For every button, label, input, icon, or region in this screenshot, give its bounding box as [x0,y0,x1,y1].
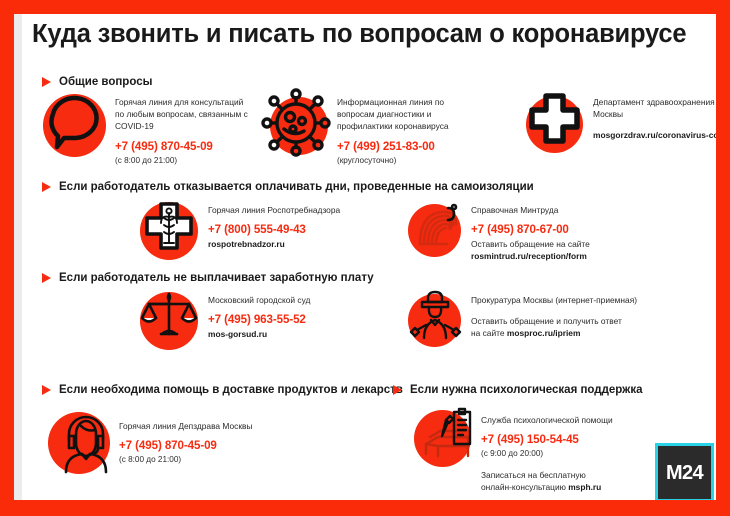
contact-note: Оставить обращение и получить ответ [471,315,646,327]
page-title: Куда звонить и писать по вопросам о коро… [32,20,686,49]
contact-depzdrav-hotline: Горячая линия Депздрава Москвы +7 (495) … [48,412,299,474]
contact-mintrud: Справочная Минтруда +7 (495) 870-67-00 О… [408,202,636,263]
contact-note-site-line: онлайн-консультацию msph.ru [481,481,656,493]
headset-operator-icon [48,412,110,474]
section-heading-label: Если работодатель отказывается оплачиват… [59,181,534,193]
mintrud-emblem-icon [408,204,461,257]
section-heading-label: Если необходима помощь в доставке продук… [59,384,403,396]
contact-website[interactable]: mosproc.ru/ipriem [507,328,581,338]
section-heading-label: Если работодатель не выплачивает заработ… [59,272,374,284]
scales-of-justice-icon [140,292,198,350]
contact-description: Московский городской суд [208,294,378,306]
contact-hours: (с 9:00 до 20:00) [481,448,656,459]
contact-rospotrebnadzor: Горячая линия Роспотребнадзора +7 (800) … [140,202,378,260]
caduceus-cross-icon [140,202,198,260]
medical-cross-icon [526,96,583,153]
triangle-bullet-icon [42,273,51,283]
poster-sheet: Куда звонить и писать по вопросам о коро… [14,14,716,500]
contact-info-line-diagnostics: Информационная линия по вопросам диагнос… [270,94,477,166]
contact-note: Оставить обращение на сайте [471,238,636,250]
contact-phone[interactable]: +7 (495) 150-54-45 [481,433,656,446]
contact-phone[interactable]: +7 (495) 963-55-52 [208,313,378,326]
contact-description: Прокуратура Москвы (интернет-приемная) [471,294,646,306]
contact-hours: (с 8:00 до 21:00) [115,155,250,166]
contact-hotline-covid: Горячая линия для консультаций по любым … [43,94,250,166]
contact-hours: (круглосуточно) [337,155,477,166]
m24-logo-text: M24 [666,463,703,483]
contact-description: Информационная линия по вопросам диагнос… [337,96,477,133]
contact-description: Горячая линия Депздрава Москвы [119,420,299,432]
couch-clipboard-icon [414,410,471,467]
contact-psychological-service: Служба психологической помощи +7 (495) 1… [414,410,656,493]
triangle-bullet-icon [42,182,51,192]
section-heading-label: Если нужна психологическая поддержка [410,384,642,396]
triangle-bullet-icon [393,385,402,395]
section-heading-label: Общие вопросы [59,76,152,88]
contact-website[interactable]: mosgorzdrav.ru/coronavirus-covid-19 [593,129,716,141]
contact-hours: (с 8:00 до 21:00) [119,454,299,465]
triangle-bullet-icon [42,385,51,395]
speech-bubble-icon [43,94,106,157]
contact-website[interactable]: rospotrebnadzor.ru [208,238,378,250]
contact-description: Департамент здравоохранения Москвы [593,96,716,120]
contact-description: Справочная Минтруда [471,204,636,216]
contact-phone[interactable]: +7 (800) 555-49-43 [208,223,378,236]
prosecutor-officer-icon [408,294,461,347]
section-heading-general: Общие вопросы [42,76,152,88]
section-heading-psychological-support: Если нужна психологическая поддержка [393,384,642,396]
contact-note-site-line: на сайте mosproc.ru/ipriem [471,327,646,339]
section-heading-delivery-help: Если необходима помощь в доставке продук… [42,384,403,396]
m24-logo[interactable]: M24 [655,443,714,500]
contact-website[interactable]: mos-gorsud.ru [208,328,378,340]
contact-phone[interactable]: +7 (499) 251-83-00 [337,140,477,153]
triangle-bullet-icon [42,77,51,87]
contact-note: Записаться на бесплатную [481,469,656,481]
contact-moscow-city-court: Московский городской суд +7 (495) 963-55… [140,292,378,350]
section-heading-selfisolation-pay: Если работодатель отказывается оплачиват… [42,181,534,193]
contact-note-prefix: онлайн-консультацию [481,482,568,492]
contact-description: Горячая линия для консультаций по любым … [115,96,250,133]
contact-moscow-prosecutor: Прокуратура Москвы (интернет-приемная) О… [408,292,646,347]
contact-website[interactable]: msph.ru [568,482,601,492]
section-heading-unpaid-salary: Если работодатель не выплачивает заработ… [42,272,374,284]
coronavirus-icon [270,97,328,155]
contact-website[interactable]: rosmintrud.ru/reception/form [471,250,636,262]
contact-phone[interactable]: +7 (495) 870-67-00 [471,223,636,236]
contact-note-prefix: на сайте [471,328,507,338]
contact-description: Горячая линия Роспотребнадзора [208,204,378,216]
contact-phone[interactable]: +7 (495) 870-45-09 [115,140,250,153]
contact-health-department: Департамент здравоохранения Москвы mosgo… [526,94,716,153]
infographic-poster: Куда звонить и писать по вопросам о коро… [0,0,730,516]
contact-phone[interactable]: +7 (495) 870-45-09 [119,439,299,452]
contact-description: Служба психологической помощи [481,414,656,426]
